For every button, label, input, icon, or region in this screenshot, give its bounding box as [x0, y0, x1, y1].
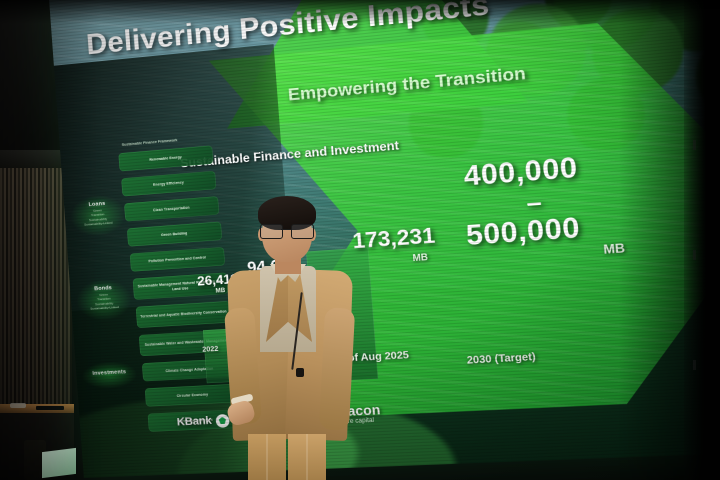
- unit-2022: MB: [215, 288, 225, 295]
- category-label: Renewable Energy: [146, 155, 185, 163]
- arm-right: [319, 307, 355, 430]
- wall-marker: [693, 140, 696, 150]
- group-loans: Loans Green Transition Sustainability Su…: [70, 199, 126, 228]
- category-label: Energy Efficiency: [150, 180, 187, 187]
- led-presentation-screen: Delivering Positive Impacts Empowering t…: [48, 0, 720, 478]
- category-label: Pollution Prevention and Control: [145, 255, 209, 264]
- axis-label-2022: 2022: [202, 346, 219, 354]
- trouser-crease-right: [306, 434, 308, 480]
- wall-marker: [693, 360, 696, 370]
- category-label: Green Building: [158, 231, 191, 238]
- presentation-photo: Delivering Positive Impacts Empowering t…: [0, 0, 720, 480]
- desk-paper: [10, 403, 26, 408]
- glasses-lens-right: [291, 224, 314, 239]
- logo-kbank-text: KBank: [176, 415, 212, 429]
- trouser-crease-left: [266, 434, 268, 480]
- unit-aug-2025: MB: [412, 252, 428, 264]
- target-unit: MB: [603, 241, 626, 258]
- right-wall: [684, 0, 720, 480]
- glasses-bridge: [281, 229, 291, 230]
- desk-object: [36, 406, 64, 410]
- category-label: Clean Transportation: [150, 205, 193, 213]
- microphone-pack: [296, 368, 304, 377]
- category-label: Circular Economy: [173, 392, 211, 398]
- glasses-lens-left: [260, 224, 283, 239]
- wall-marker: [693, 250, 696, 260]
- stage-monitor: [42, 448, 76, 478]
- glasses-icon: [260, 224, 314, 237]
- group-bonds-sublines: Green Transition Sustainability Sustaina…: [77, 291, 132, 312]
- logo-kbank[interactable]: KBank: [176, 413, 229, 429]
- speaker-person: [226, 196, 354, 480]
- group-bonds: Bonds Green Transition Sustainability Su…: [76, 284, 132, 312]
- category-label: Terrestrial and Aquatic Biodiversity Con…: [137, 310, 230, 320]
